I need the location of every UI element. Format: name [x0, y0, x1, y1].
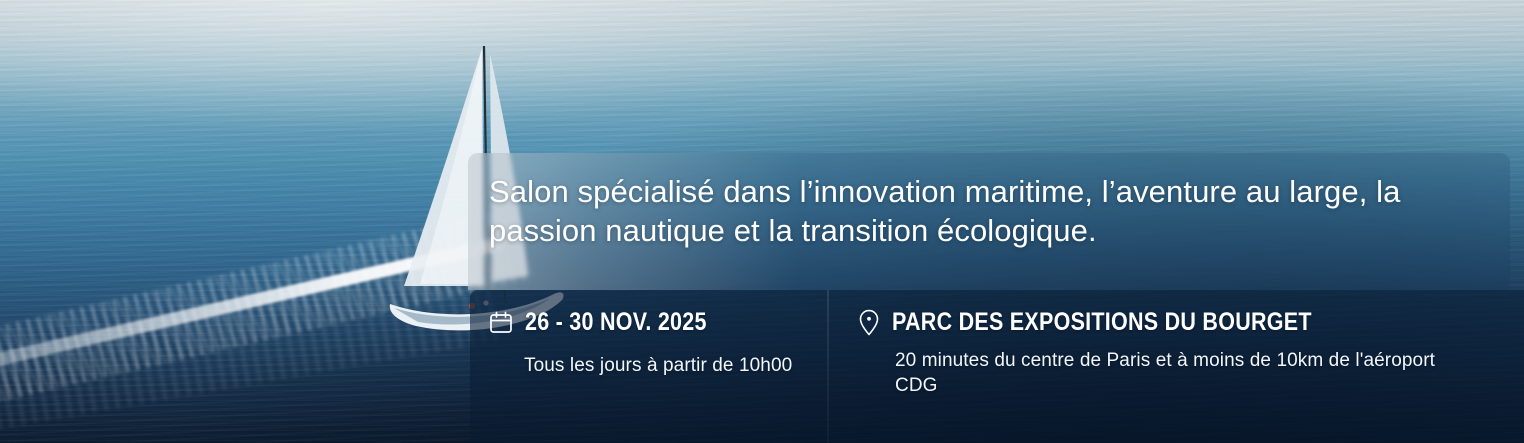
event-venue-block: PARC DES EXPOSITIONS DU BOURGET 20 minut… [858, 308, 1488, 398]
event-venue-title: PARC DES EXPOSITIONS DU BOURGET [892, 308, 1312, 336]
event-date-subtitle: Tous les jours à partir de 10h00 [524, 353, 819, 378]
event-venue-subtitle: 20 minutes du centre de Paris et à moins… [895, 348, 1480, 398]
event-date-block: 26 - 30 NOV. 2025 Tous les jours à parti… [489, 308, 819, 378]
event-date-title: 26 - 30 NOV. 2025 [525, 308, 707, 336]
page-title: Salon spécialisé dans l’innovation marit… [489, 172, 1429, 250]
maritime-event-banner: Salon spécialisé dans l’innovation marit… [0, 0, 1524, 443]
map-pin-icon [858, 309, 880, 336]
info-divider [827, 290, 829, 443]
calendar-icon [489, 310, 513, 335]
event-date-heading: 26 - 30 NOV. 2025 [489, 308, 819, 336]
event-venue-heading: PARC DES EXPOSITIONS DU BOURGET [858, 308, 1488, 336]
